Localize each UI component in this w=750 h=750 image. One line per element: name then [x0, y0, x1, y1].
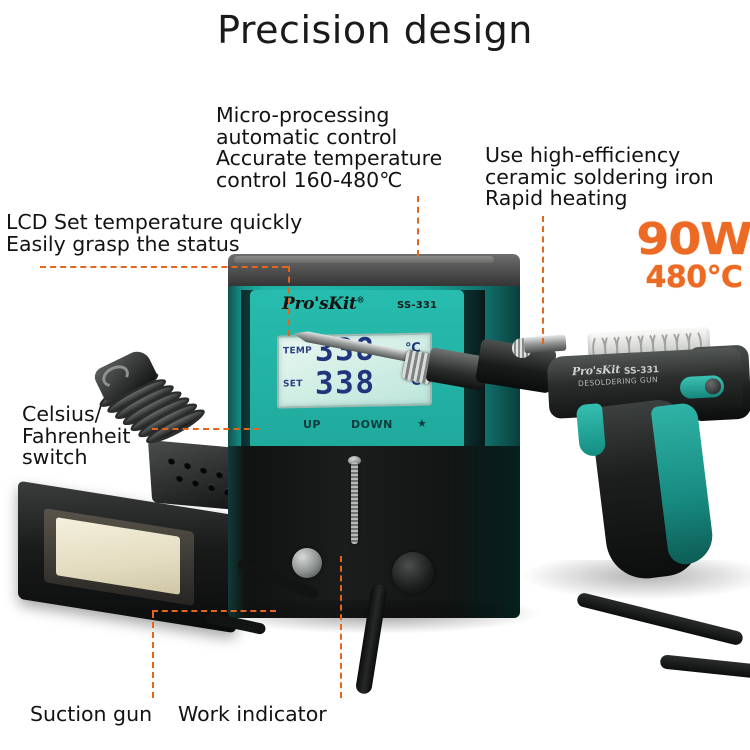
callout-work-indicator: Work indicator	[178, 704, 327, 726]
control-button-row: UP DOWN ★	[277, 418, 437, 438]
lcd-set-label: SET	[283, 379, 303, 389]
gun-brand-logo: Pro'sKit	[572, 363, 621, 379]
power-badge: 90W 480℃	[640, 220, 748, 293]
callout-ceramic-heater: Use high-efficiency ceramic soldering ir…	[485, 145, 714, 210]
page-title: Precision design	[0, 8, 750, 52]
lcd-set-value: 338	[315, 365, 376, 402]
gun-power-cable-segment	[660, 654, 750, 679]
infographic-canvas: Pro'sKit® SS-331 TEMP 338 ℃ SET 338 ℃ UP	[0, 0, 750, 750]
leader-line-ceramic	[542, 216, 544, 344]
gun-connector-port	[392, 552, 434, 594]
callout-micro-processing: Micro-processing automatic control Accur…	[216, 105, 442, 191]
callout-celsius-fahrenheit-switch: Celsius/ Fahrenheit switch	[22, 404, 130, 469]
panel-screw	[351, 462, 358, 544]
station-brand-logo: Pro'sKit®	[282, 294, 364, 314]
down-button[interactable]: DOWN	[351, 418, 393, 431]
station-brand-text: Pro'sKit	[282, 294, 357, 314]
work-indicator-icon: ★	[417, 417, 427, 430]
gun-nozzle	[523, 335, 566, 354]
callout-lcd-display: LCD Set temperature quickly Easily grasp…	[6, 212, 302, 255]
iron-connector-port	[292, 548, 322, 578]
leader-line-suction-v	[152, 612, 154, 698]
callout-suction-gun: Suction gun	[30, 704, 152, 726]
gun-release-button[interactable]	[679, 375, 724, 399]
leader-line-work	[340, 556, 342, 698]
station-top-cover	[228, 254, 520, 290]
leader-line-lcd	[40, 266, 288, 268]
badge-temperature-label: 480℃	[640, 262, 748, 293]
leader-line-suction-h	[152, 610, 276, 612]
leader-line-cf	[152, 428, 260, 430]
lcd-temp-label: TEMP	[283, 346, 312, 357]
station-model-label: SS-331	[397, 300, 437, 311]
registered-mark-icon: ®	[357, 294, 365, 304]
badge-power-label: 90W	[636, 220, 750, 260]
gun-trigger[interactable]	[576, 403, 606, 457]
up-button[interactable]: UP	[303, 418, 321, 431]
leader-line-micro	[417, 196, 419, 256]
leader-line-lcd-v	[288, 266, 290, 336]
